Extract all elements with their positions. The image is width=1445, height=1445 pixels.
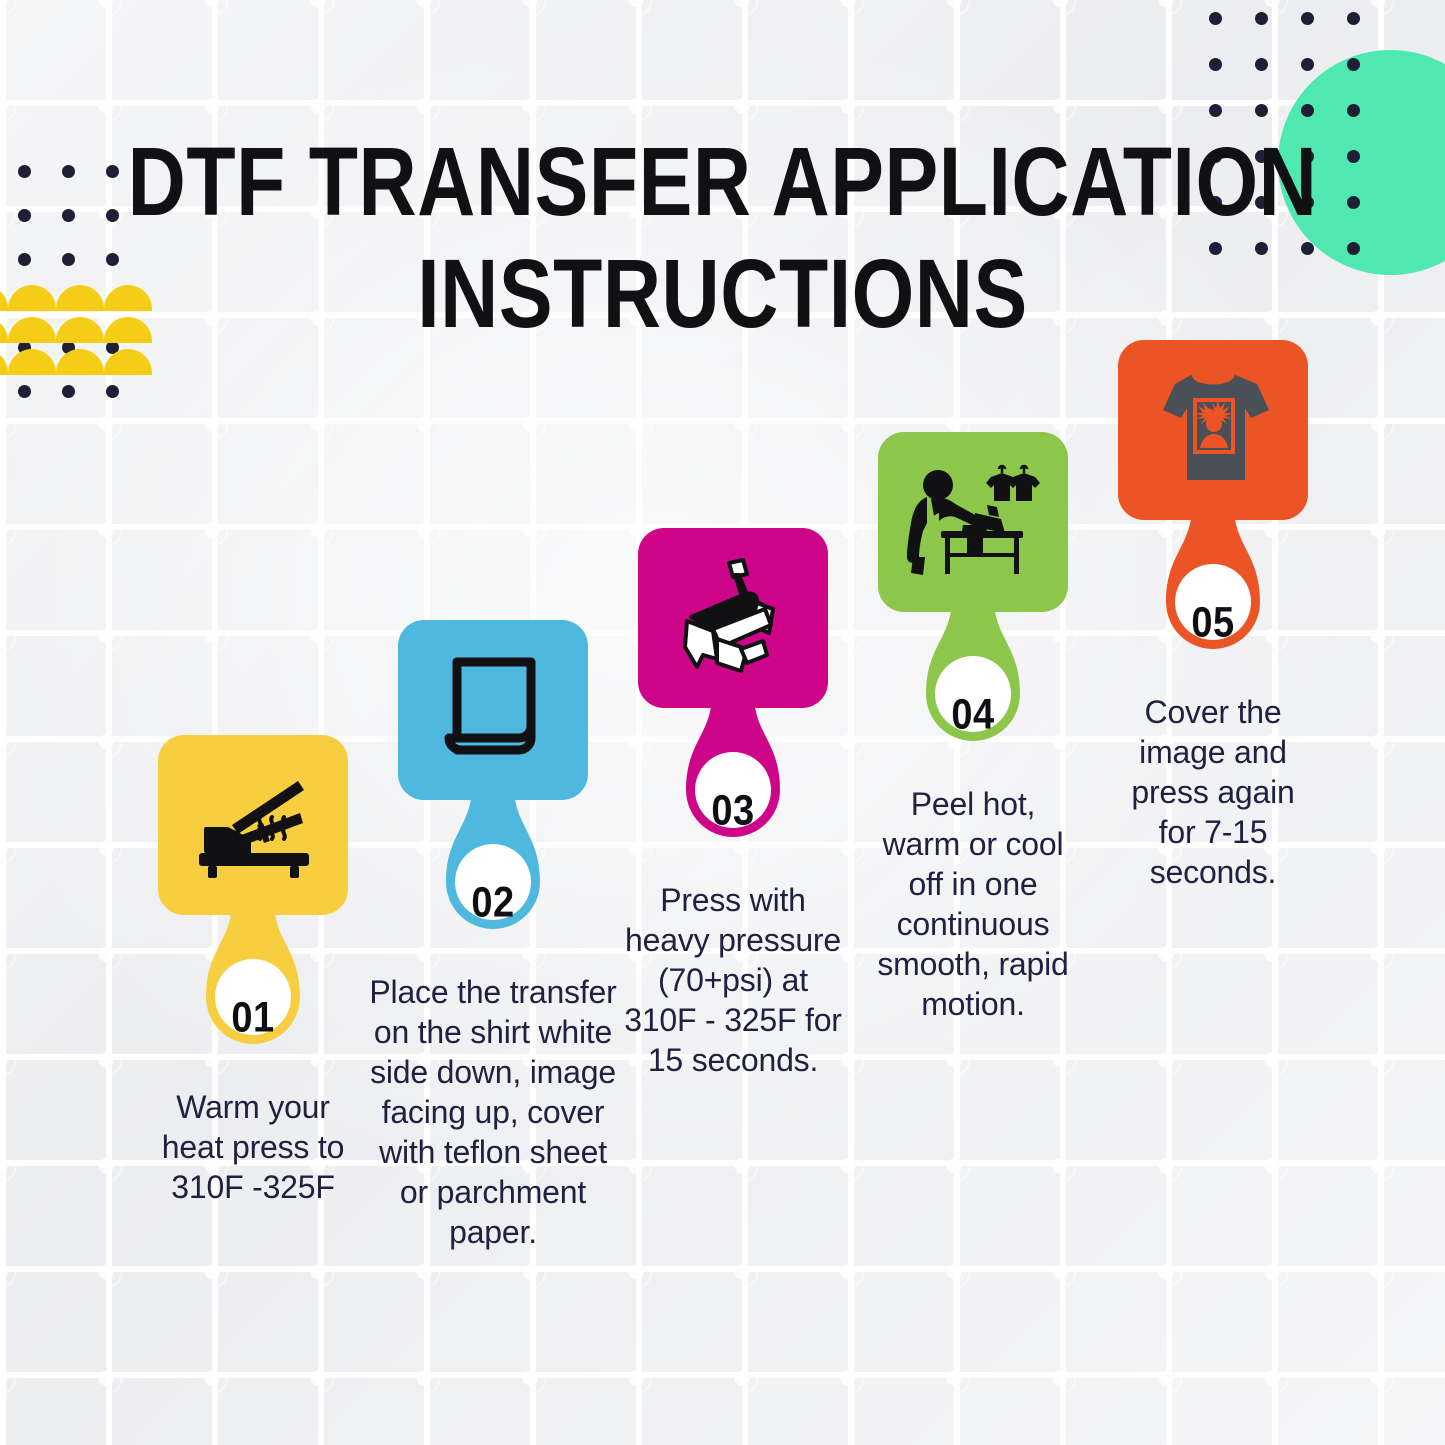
step-3-number: 03 (608, 787, 858, 835)
step-4-icon-card (878, 432, 1068, 612)
step-3-icon-card (638, 528, 828, 708)
step-2-icon-card (398, 620, 588, 800)
step-4-connector: 04 (848, 598, 1098, 778)
title-line-2: INSTRUCTIONS (0, 240, 1445, 350)
step-2-connector: 02 (368, 786, 618, 966)
page-title: DTF TRANSFER APPLICATION INSTRUCTIONS (0, 140, 1445, 338)
step-4-number: 04 (848, 691, 1098, 739)
step-item-2: 02 Place the transfer on the shirt white… (368, 620, 618, 1252)
heat-press-machine-icon (669, 555, 797, 681)
step-item-5: 05 Cover the image and press again for 7… (1088, 340, 1338, 892)
step-5-icon-card (1118, 340, 1308, 520)
heat-press-open-icon (188, 765, 318, 885)
person-pressing-shirt-icon (903, 459, 1043, 585)
step-1-number: 01 (128, 994, 378, 1042)
step-item-3: 03 Press with heavy pressure (70+psi) at… (608, 528, 858, 1080)
step-3-caption: Press with heavy pressure (70+psi) at 31… (619, 880, 847, 1080)
step-1-connector: 01 (128, 901, 378, 1081)
step-1-caption: Warm your heat press to 310F -325F (148, 1087, 358, 1207)
step-5-connector: 05 (1088, 506, 1338, 686)
title-line-1: DTF TRANSFER APPLICATION (0, 128, 1445, 238)
step-5-number: 05 (1088, 599, 1338, 647)
printed-tshirt-icon (1147, 366, 1279, 494)
step-2-number: 02 (368, 879, 618, 927)
step-item-4: 04 Peel hot, warm or cool off in one con… (848, 432, 1098, 1024)
step-2-caption: Place the transfer on the shirt white si… (368, 972, 618, 1252)
step-1-icon-card (158, 735, 348, 915)
transfer-sheet-icon (435, 650, 551, 770)
step-3-connector: 03 (608, 694, 858, 874)
step-5-caption: Cover the image and press again for 7-15… (1113, 692, 1313, 892)
step-4-caption: Peel hot, warm or cool off in one contin… (873, 784, 1073, 1024)
step-item-1: 01 Warm your heat press to 310F -325F (128, 735, 378, 1207)
